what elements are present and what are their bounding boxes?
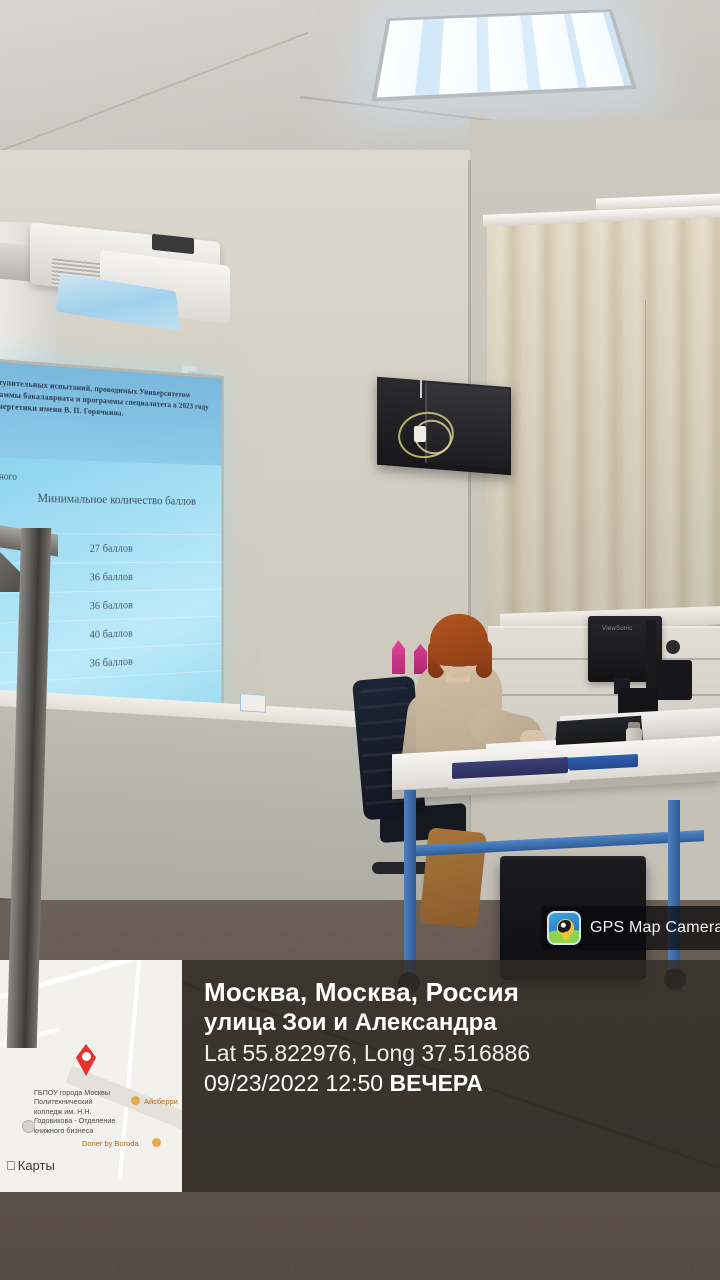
overlay-time: 12:50 (326, 1070, 384, 1096)
desk-leg (668, 800, 680, 980)
slide-score-value: 27 баллов (90, 541, 133, 555)
blind-chain[interactable] (645, 300, 646, 620)
map-pin-hole (82, 1052, 91, 1061)
person-hair (430, 614, 488, 666)
equipment-box (656, 660, 692, 700)
slide-column-title: Минимальное количество баллов (38, 490, 197, 508)
slide-header: ступительных испытаний, проводимых Униве… (0, 361, 221, 465)
wall-socket-plate (240, 693, 266, 713)
monitor-brand-label: ViewSonic (602, 626, 633, 632)
slide-score-value: 36 баллов (90, 598, 133, 613)
ceiling-light-panel (371, 9, 637, 102)
overlay-meridiem: ВЕЧЕРА (389, 1070, 482, 1096)
map-poi-label: Айсберри (144, 1097, 178, 1106)
geotag-text-panel: Москва, Москва, Россия улица Зои и Алекс… (182, 960, 720, 1192)
cabinet-cable (420, 378, 422, 398)
slide-score-value: 36 баллов (90, 654, 133, 670)
light-tube (377, 19, 424, 97)
map-provider-label: Карты (18, 1158, 55, 1173)
apple-logo-icon:  (6, 1158, 16, 1173)
slide-score-value: 40 баллов (90, 626, 133, 642)
desk-leg (404, 790, 416, 980)
map-poi-label: Doner by Boroda (82, 1139, 139, 1148)
map-place-label: ГБПОУ города Москвы Политехнический колл… (34, 1088, 118, 1135)
geotag-overlay: ГБПОУ города Москвы Политехнический колл… (0, 960, 720, 1192)
cable-plug (414, 426, 426, 442)
gps-map-camera-watermark: GPS Map Camera (541, 906, 720, 950)
overlay-coordinates: Lat 55.822976, Long 37.516886 (204, 1038, 720, 1068)
vertical-blinds[interactable] (487, 217, 720, 656)
overlay-location: Москва, Москва, Россия (204, 976, 720, 1008)
overlay-date: 09/23/2022 (204, 1070, 319, 1096)
blinds-shading (487, 217, 720, 656)
map-provider-branding:  Карты (6, 1158, 55, 1173)
map-poi-dot (131, 1096, 140, 1105)
equipment-knob (666, 640, 680, 654)
light-tube (439, 17, 478, 94)
gps-camera-icon (547, 911, 581, 945)
gps-app-label: GPS Map Camera (590, 919, 720, 937)
slide-score-value: 36 баллов (90, 570, 133, 585)
overlay-timestamp: 09/23/2022 12:50 ВЕЧЕРА (204, 1068, 720, 1098)
screenshot-root: ступительных испытаний, проводимых Униве… (0, 0, 720, 1280)
overlay-street: улица Зои и Александра (204, 1008, 720, 1038)
slide-left-label: ьного (0, 471, 17, 483)
map-poi-dot (152, 1138, 161, 1147)
